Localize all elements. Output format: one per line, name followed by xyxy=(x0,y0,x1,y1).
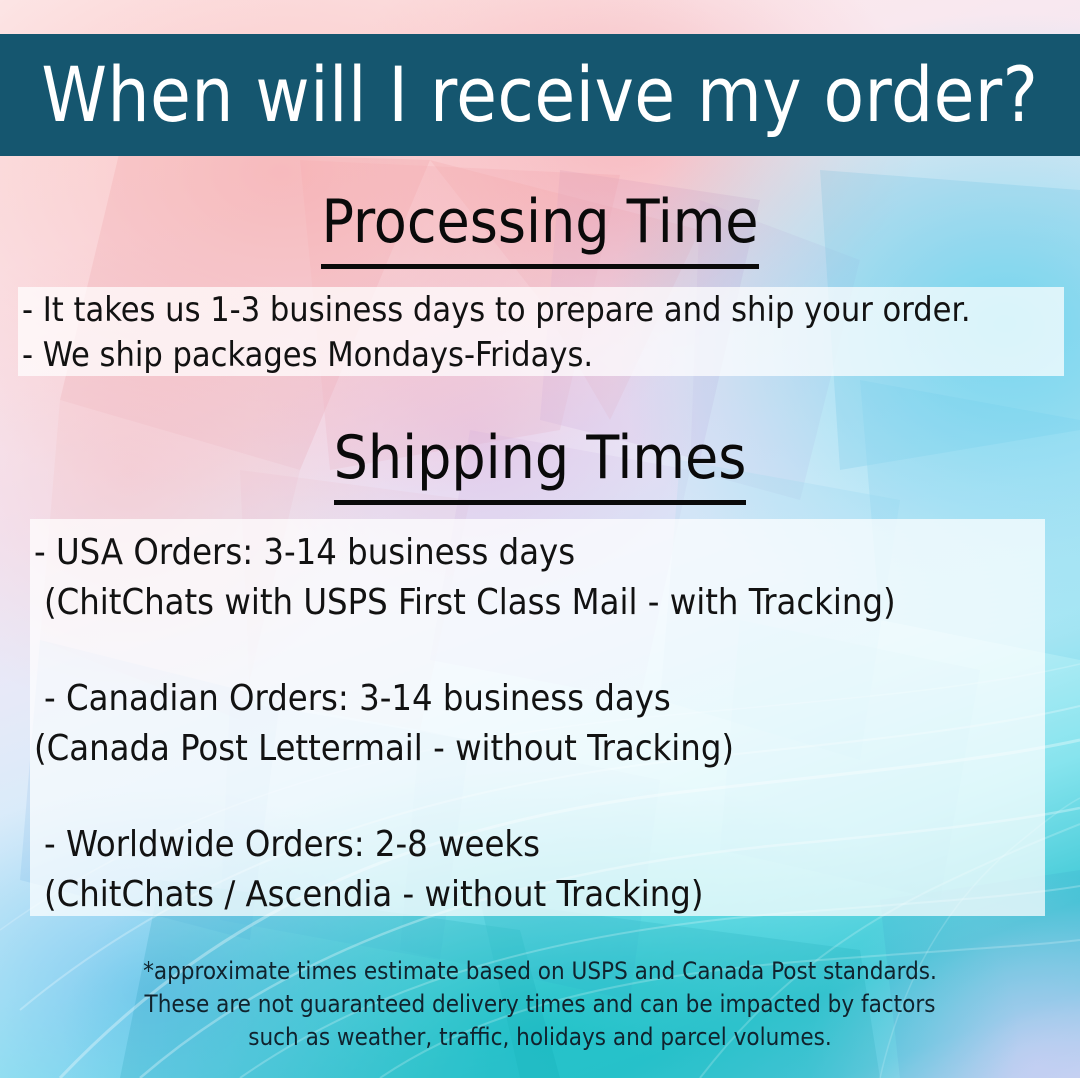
shipping-carrier-line: (ChitChats with USPS First Class Mail - … xyxy=(34,578,896,628)
section-heading-shipping-times: Shipping Times xyxy=(0,428,1080,488)
shipping-carrier-line: (ChitChats / Ascendia - without Tracking… xyxy=(34,870,896,920)
shipping-group-canada: - Canadian Orders: 3-14 business days (C… xyxy=(34,674,896,774)
shipping-info-poster: When will I receive my order? Processing… xyxy=(0,0,1080,1078)
processing-time-line: - It takes us 1-3 business days to prepa… xyxy=(22,288,971,333)
footnote-line: These are not guaranteed delivery times … xyxy=(0,988,1080,1021)
shipping-times-groups: - USA Orders: 3-14 business days (ChitCh… xyxy=(34,528,896,920)
section-heading-processing-time: Processing Time xyxy=(0,192,1080,252)
shipping-region-line: - Worldwide Orders: 2-8 weeks xyxy=(34,820,896,870)
section-heading-shipping-times-label: Shipping Times xyxy=(334,423,747,505)
footnote-disclaimer: *approximate times estimate based on USP… xyxy=(0,955,1080,1054)
shipping-region-line: - Canadian Orders: 3-14 business days xyxy=(34,674,896,724)
processing-time-line: - We ship packages Mondays-Fridays. xyxy=(22,333,971,378)
shipping-group-usa: - USA Orders: 3-14 business days (ChitCh… xyxy=(34,528,896,628)
footnote-line: *approximate times estimate based on USP… xyxy=(0,955,1080,988)
shipping-carrier-line: (Canada Post Lettermail - without Tracki… xyxy=(34,724,896,774)
shipping-region-line: - USA Orders: 3-14 business days xyxy=(34,528,896,578)
footnote-line: such as weather, traffic, holidays and p… xyxy=(0,1021,1080,1054)
header-banner: When will I receive my order? xyxy=(0,34,1080,156)
shipping-group-worldwide: - Worldwide Orders: 2-8 weeks (ChitChats… xyxy=(34,820,896,920)
section-heading-processing-time-label: Processing Time xyxy=(321,187,758,269)
page-title: When will I receive my order? xyxy=(42,57,1039,133)
processing-time-lines: - It takes us 1-3 business days to prepa… xyxy=(22,288,971,378)
